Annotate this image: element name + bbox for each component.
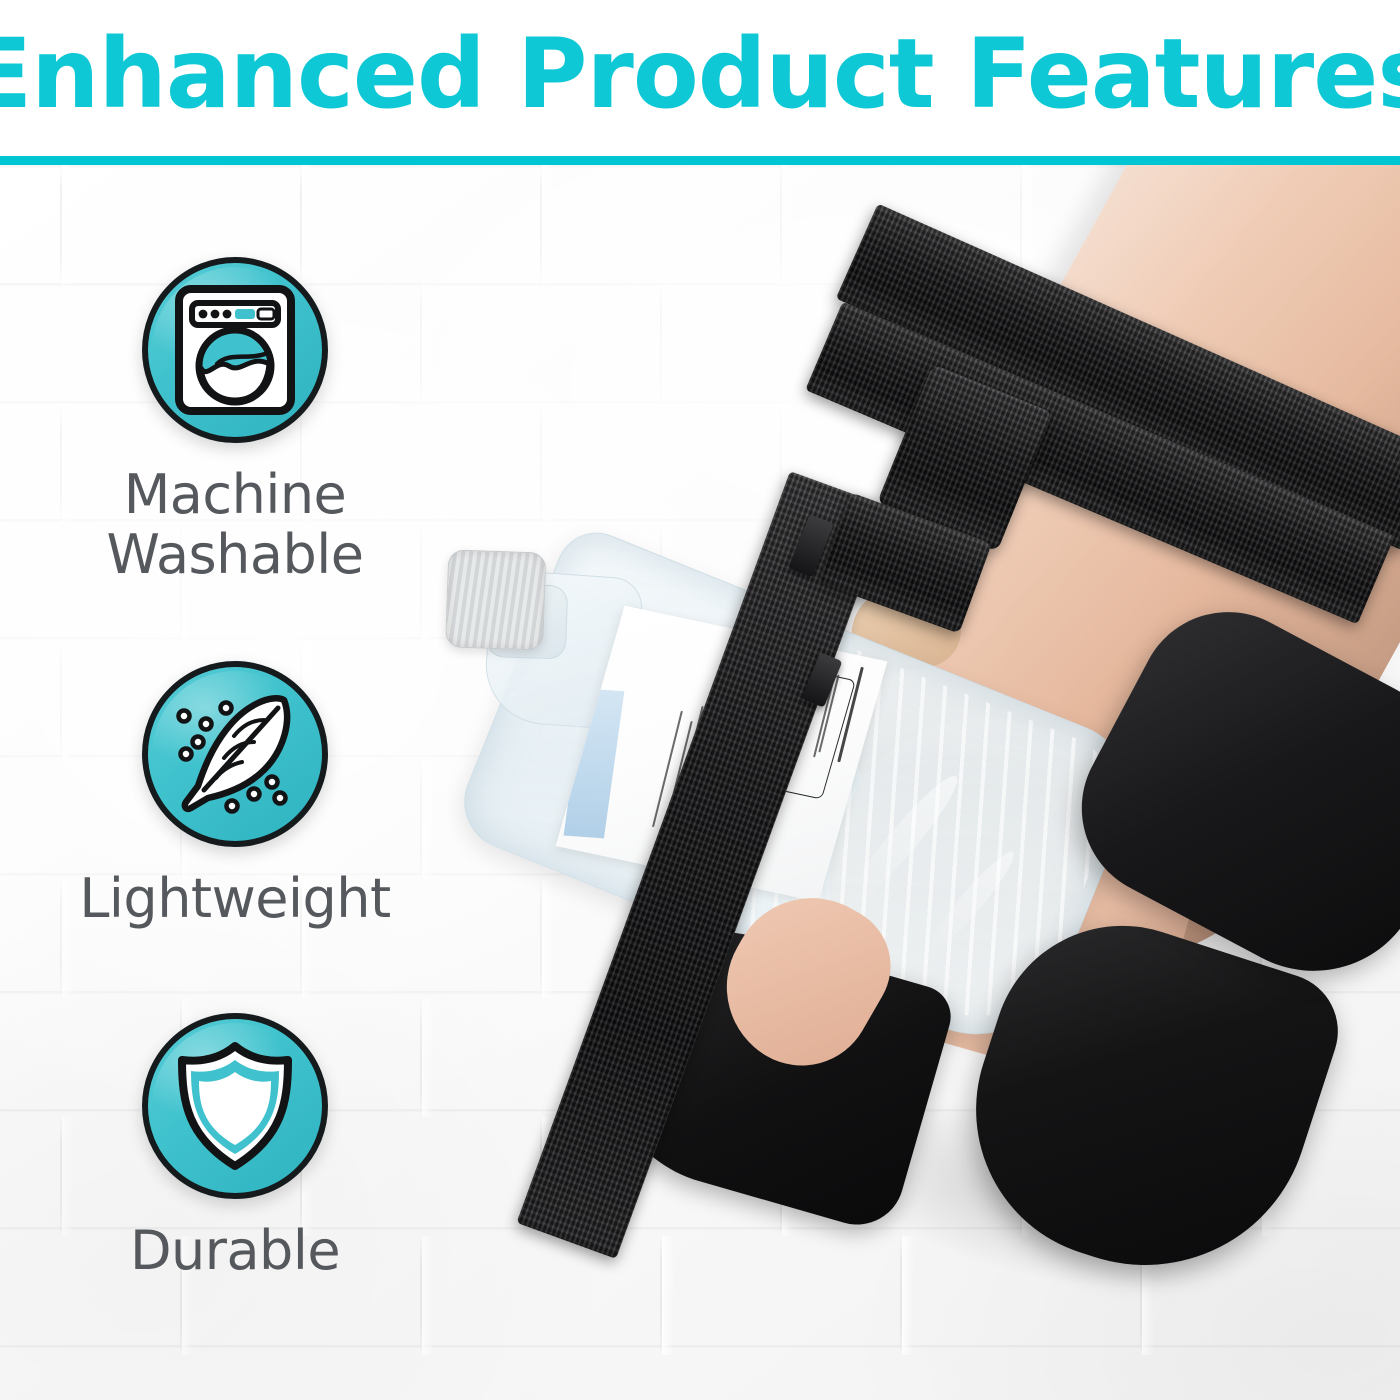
shield-icon [142, 1013, 328, 1199]
feature-item-lightweight: Lightweight [0, 661, 470, 929]
page-title: Enhanced Product Features [0, 14, 1400, 134]
feather-icon [142, 661, 328, 847]
feature-label-line: Washable [0, 525, 470, 585]
header-band: Enhanced Product Features [0, 0, 1400, 160]
feature-label-line: Lightweight [0, 869, 470, 929]
feature-label-line: Durable [0, 1221, 470, 1281]
header-divider [0, 156, 1400, 165]
feature-label-line: Machine [0, 465, 470, 525]
product-photo [400, 165, 1400, 1400]
feature-item-machine-washable: Machine Washable [0, 257, 470, 586]
feature-label: Lightweight [0, 869, 470, 929]
infographic-canvas: Machine Washable [0, 0, 1400, 1400]
feature-label: Machine Washable [0, 465, 470, 586]
feature-item-durable: Durable [0, 1013, 470, 1281]
feature-label: Durable [0, 1221, 470, 1281]
washing-machine-icon [142, 257, 328, 443]
feature-list: Machine Washable [0, 165, 470, 1400]
